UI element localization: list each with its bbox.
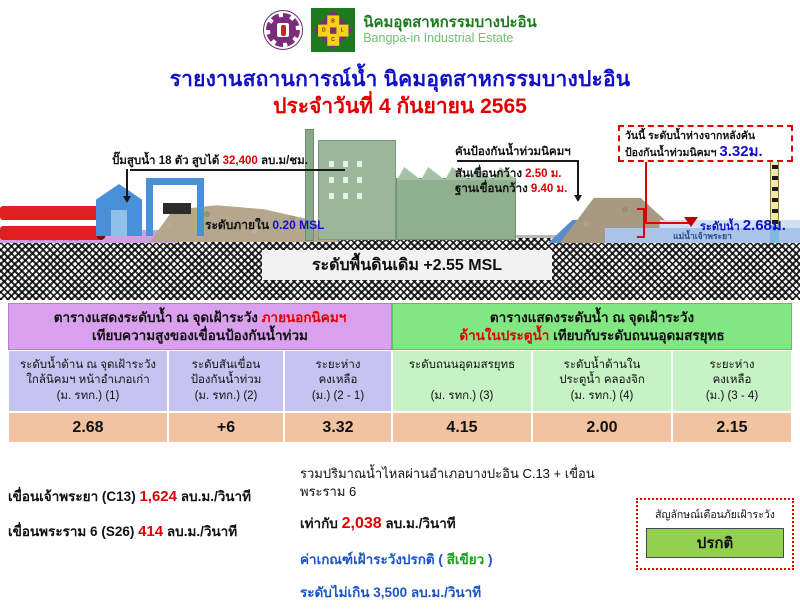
tables-header-row: ตารางแสดงระดับน้ำ ณ จุดเฝ้าระวัง ภายนอกน… [8, 303, 792, 350]
flood-barrier-title-annotation: คันป้องกันน้ำท่วมนิคมฯ [455, 143, 571, 161]
rama6-dam-discharge: เขื่อนพระราม 6 (S26) 414 ลบ.ม./วินาที [8, 520, 298, 542]
value-inside-gate-level: 2.00 [532, 412, 672, 443]
original-ground-level-banner: ระดับพื้นดินเดิม +2.55 MSL [262, 250, 552, 280]
total-flow-value: เท่ากับ 2,038 ลบ.ม./วินาที [300, 512, 630, 534]
data-tables: ตารางแสดงระดับน้ำ ณ จุดเฝ้าระวัง ภายนอกน… [8, 303, 792, 443]
freeboard-measure-bracket [637, 208, 645, 238]
value-barrier-crest: +6 [168, 412, 284, 443]
pump-house-icon [96, 184, 142, 236]
chao-phraya-dam-discharge: เขื่อนเจ้าพระยา (C13) 1,624 ลบ.ม./วินาที [8, 485, 298, 507]
pump-gantry-icon [146, 178, 204, 236]
col-header-barrier-crest: ระดับสันเขื่อน ป้องกันน้ำท่วม (ม. รทก.) … [168, 350, 284, 412]
discharge-pipe-upper [0, 206, 104, 220]
government-seal-icon [263, 10, 303, 50]
normal-criteria-text: ค่าเกณฑ์เฝ้าระวังปรกติ ( สีเขียว ) [300, 548, 630, 570]
bldc-diamond-logo-icon: B L D C [311, 8, 355, 52]
pump-leader-line [130, 169, 345, 171]
water-level-marker-icon [684, 217, 698, 227]
flow-summary-block: รวมปริมาณน้ำไหลผ่านอำเภอบางปะอิน C.13 + … [300, 465, 630, 603]
discharge-pipe-lower [0, 226, 104, 240]
value-remaining-right: 2.15 [672, 412, 792, 443]
col-header-outside-level: ระดับน้ำด้าน ณ จุดเฝ้าระวัง ใกล้นิคมฯ หน… [8, 350, 168, 412]
dam-discharge-list: เขื่อนเจ้าพระยา (C13) 1,624 ลบ.ม./วินาที… [8, 485, 298, 555]
pump-leader-arrow [126, 169, 128, 197]
freeboard-callout: วันนี้ ระดับน้ำห่างจากหลังคัน ป้องกันน้ำ… [618, 125, 793, 162]
criteria-limit-text: ระดับไม่เกิน 3,500 ลบ.ม./วินาที [300, 581, 630, 603]
col-header-remaining-right: ระยะห่าง คงเหลือ (ม.) (3 - 4) [672, 350, 792, 412]
total-flow-description: รวมปริมาณน้ำไหลผ่านอำเภอบางปะอิน C.13 + … [300, 465, 630, 500]
col-header-road-level: ระดับถนนอุดมสรยุทธ (ม. รทก.) (3) [392, 350, 532, 412]
alert-status-title: สัญลักษณ์เตือนภัยเฝ้าระวัง [646, 506, 784, 523]
col-header-remaining-left: ระยะห่าง คงเหลือ (ม.) (2 - 1) [284, 350, 392, 412]
brand-name-thai: นิคมอุตสาหกรรมบางปะอิน [363, 15, 537, 31]
tables-value-row: 2.68 +6 3.32 4.15 2.00 2.15 [8, 412, 792, 443]
report-page: B L D C นิคมอุตสาหกรรมบางปะอิน Bangpa-in… [0, 0, 800, 616]
pump-capacity-annotation: ปั๊มสูบน้ำ 18 ตัว สูบได้ 32,400 ลบ.ม/ชม. [112, 152, 308, 170]
page-subtitle-date: ประจำวันที่ 4 กันยายน 2565 [0, 90, 800, 123]
value-remaining-left: 3.32 [284, 412, 392, 443]
barrier-leader-arrow [577, 160, 579, 196]
table-right-header: ตารางแสดงระดับน้ำ ณ จุดเฝ้าระวัง ด้านในป… [392, 303, 792, 350]
col-header-inside-gate-level: ระดับน้ำด้านใน ประตูน้ำ คลองจิก (ม. รทก.… [532, 350, 672, 412]
barrier-leader-line [457, 160, 579, 162]
alert-status-box: สัญลักษณ์เตือนภัยเฝ้าระวัง ปรกติ [636, 498, 794, 570]
table-left-header: ตารางแสดงระดับน้ำ ณ จุดเฝ้าระวัง ภายนอกน… [8, 303, 392, 350]
callout-leader-vertical [645, 162, 647, 224]
internal-water-level-annotation: ระดับภายใน 0.20 MSL [205, 216, 324, 235]
tables-column-header-row: ระดับน้ำด้าน ณ จุดเฝ้าระวัง ใกล้นิคมฯ หน… [8, 350, 792, 412]
river-water-level-annotation: ระดับน้ำ 2.68ม. [700, 213, 786, 237]
value-outside-level: 2.68 [8, 412, 168, 443]
alert-status-badge: ปรกติ [646, 528, 784, 558]
value-road-level: 4.15 [392, 412, 532, 443]
factory-building-icon [318, 140, 396, 240]
cross-section-diagram: คลองหนองหอย แม่น้ำเจ้าพระยา [0, 120, 800, 300]
header-logo-bar: B L D C นิคมอุตสาหกรรมบางปะอิน Bangpa-in… [0, 6, 800, 54]
logo-letter-c: C [327, 33, 339, 44]
brand-name-english: Bangpa-in Industrial Estate [363, 31, 537, 45]
base-width-annotation: ฐานเขื่อนกว้าง 9.40 ม. [455, 180, 567, 198]
